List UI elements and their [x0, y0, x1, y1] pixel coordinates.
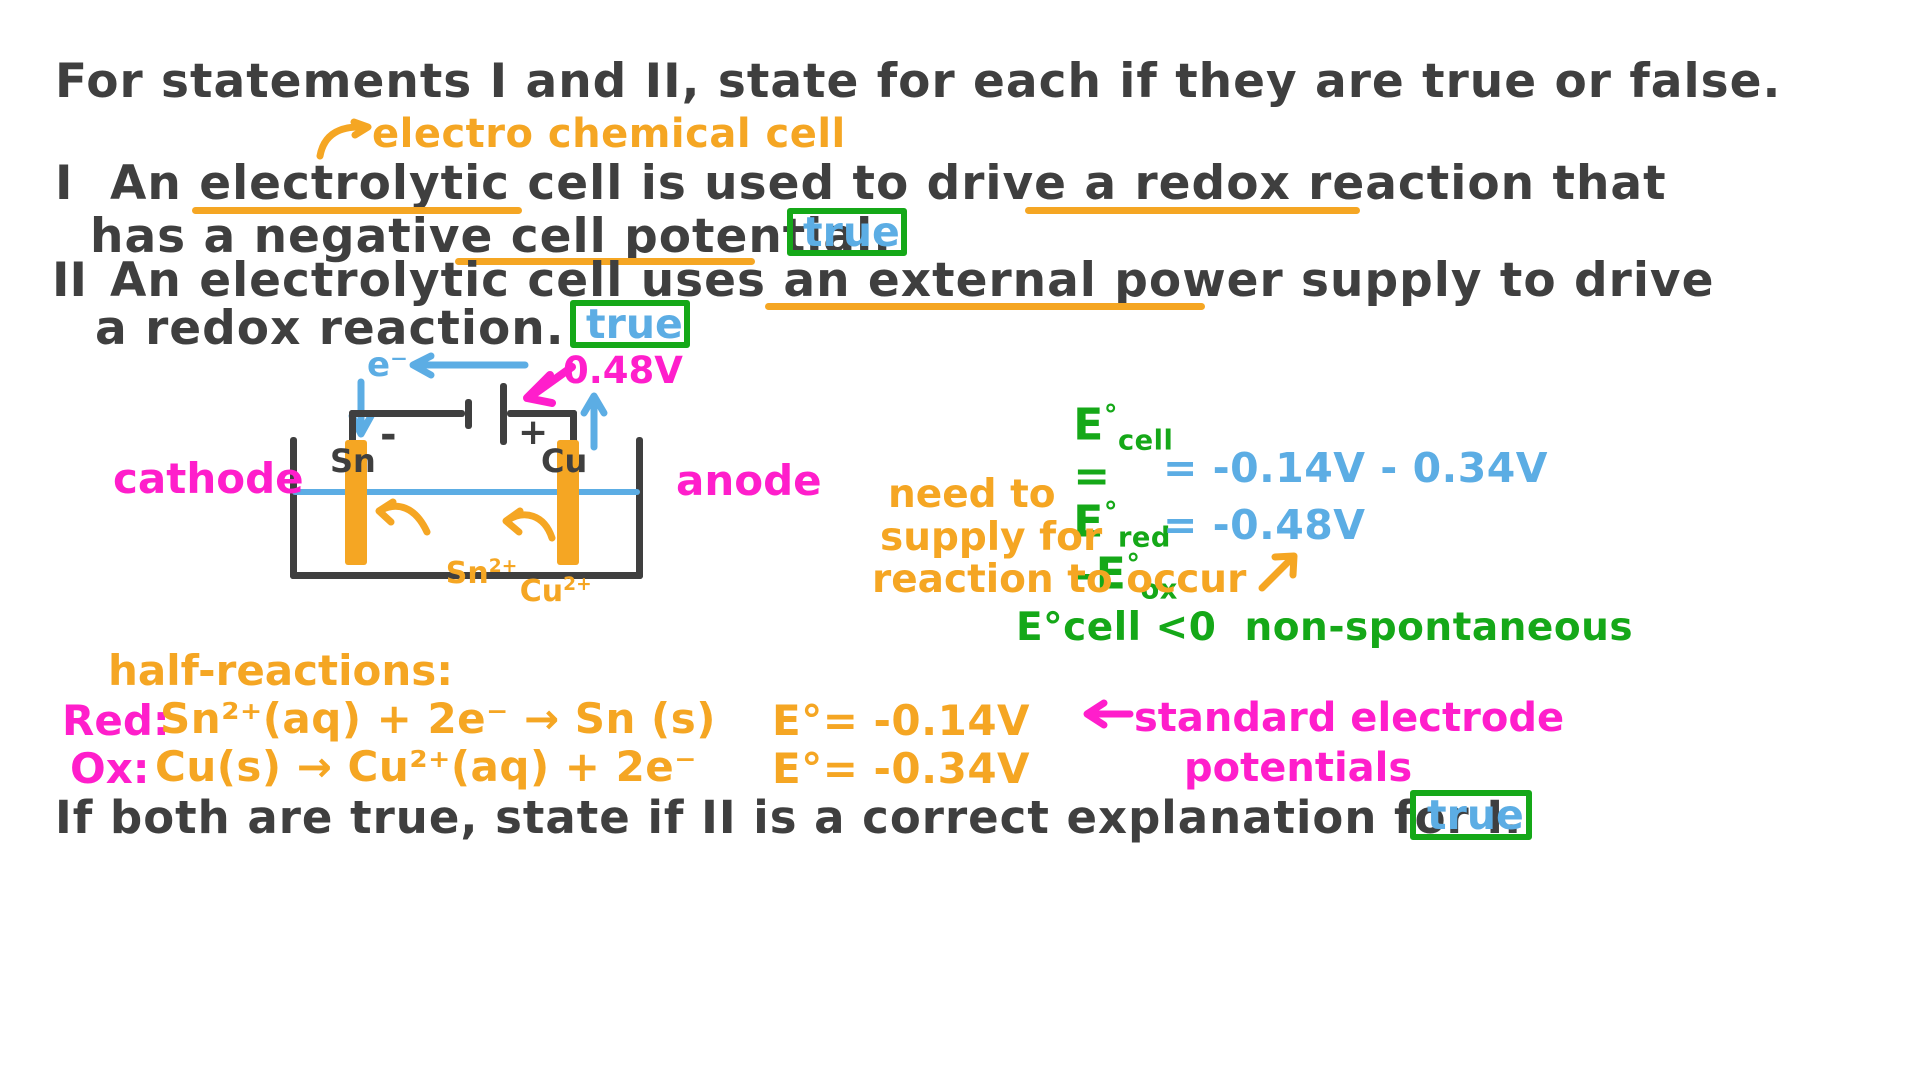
- reduction-label: Red:: [62, 700, 170, 742]
- oxidation-label: Ox:: [70, 748, 150, 790]
- circuit-wire-top-left: [349, 410, 465, 417]
- oxidation-equation: Cu(s) → Cu²⁺(aq) + 2e⁻: [155, 746, 697, 788]
- ion-label-cu2plus: Cu2+: [478, 546, 592, 637]
- statement-2-line-1: An electrolytic cell uses an external po…: [110, 257, 1714, 304]
- callout-left-arrow-icon: [1082, 700, 1134, 730]
- half-reactions-heading: half-reactions:: [108, 650, 453, 692]
- statement-2-numeral: II: [52, 257, 87, 304]
- anode-label: anode: [676, 460, 822, 502]
- worksheet-canvas: For statements I and II, state for each …: [0, 0, 1920, 1080]
- reduction-potential: E°= -0.14V: [772, 700, 1030, 742]
- battery-plate-long: [500, 383, 507, 445]
- answer-final: true: [1427, 795, 1524, 836]
- note-line-3: reaction to occur: [872, 560, 1246, 599]
- calculation-line-1: = -0.14V - 0.34V: [1163, 448, 1548, 489]
- callout-line-2: potentials: [1184, 748, 1412, 788]
- final-question: If both are true, state if II is a corre…: [55, 795, 1522, 840]
- note-up-right-arrow-icon: [1258, 552, 1300, 594]
- answer-statement-2: true: [586, 304, 683, 345]
- cathode-label: cathode: [113, 458, 304, 500]
- beaker-right-wall: [636, 437, 643, 579]
- prompt-line: For statements I and II, state for each …: [55, 58, 1781, 105]
- conclusion-non-spontaneous: E°cell <0 non-spontaneous: [1016, 608, 1633, 647]
- voltage-label: 0.48V: [563, 352, 683, 389]
- oxidation-potential: E°= -0.34V: [772, 748, 1030, 790]
- battery-plate-short: [465, 399, 472, 429]
- electron-flow-arrow-icon: [405, 355, 530, 381]
- annotation-arrow-icon: [318, 120, 374, 160]
- annotation-electrochemical-cell: electro chemical cell: [372, 114, 846, 154]
- calculation-line-2: = -0.48V: [1163, 505, 1366, 546]
- electrode-label-sn: Sn: [330, 445, 376, 477]
- electron-label: e⁻: [367, 348, 408, 382]
- underline-external-power-supply: [765, 303, 1205, 310]
- note-line-2: supply for: [880, 518, 1102, 557]
- negative-terminal-sign: -: [380, 415, 397, 455]
- statement-1-line-1: An electrolytic cell is used to drive a …: [110, 160, 1667, 207]
- statement-1-numeral: I: [55, 160, 73, 207]
- note-line-1: need to: [888, 475, 1056, 514]
- callout-line-1: standard electrode: [1134, 698, 1564, 738]
- statement-2-line-2: a redox reaction.: [95, 305, 565, 352]
- underline-redox-reaction: [1025, 207, 1360, 214]
- reduction-equation: Sn²⁺(aq) + 2e⁻ → Sn (s): [160, 698, 716, 740]
- answer-statement-1: true: [803, 212, 900, 253]
- electrode-label-cu: Cu: [541, 445, 587, 477]
